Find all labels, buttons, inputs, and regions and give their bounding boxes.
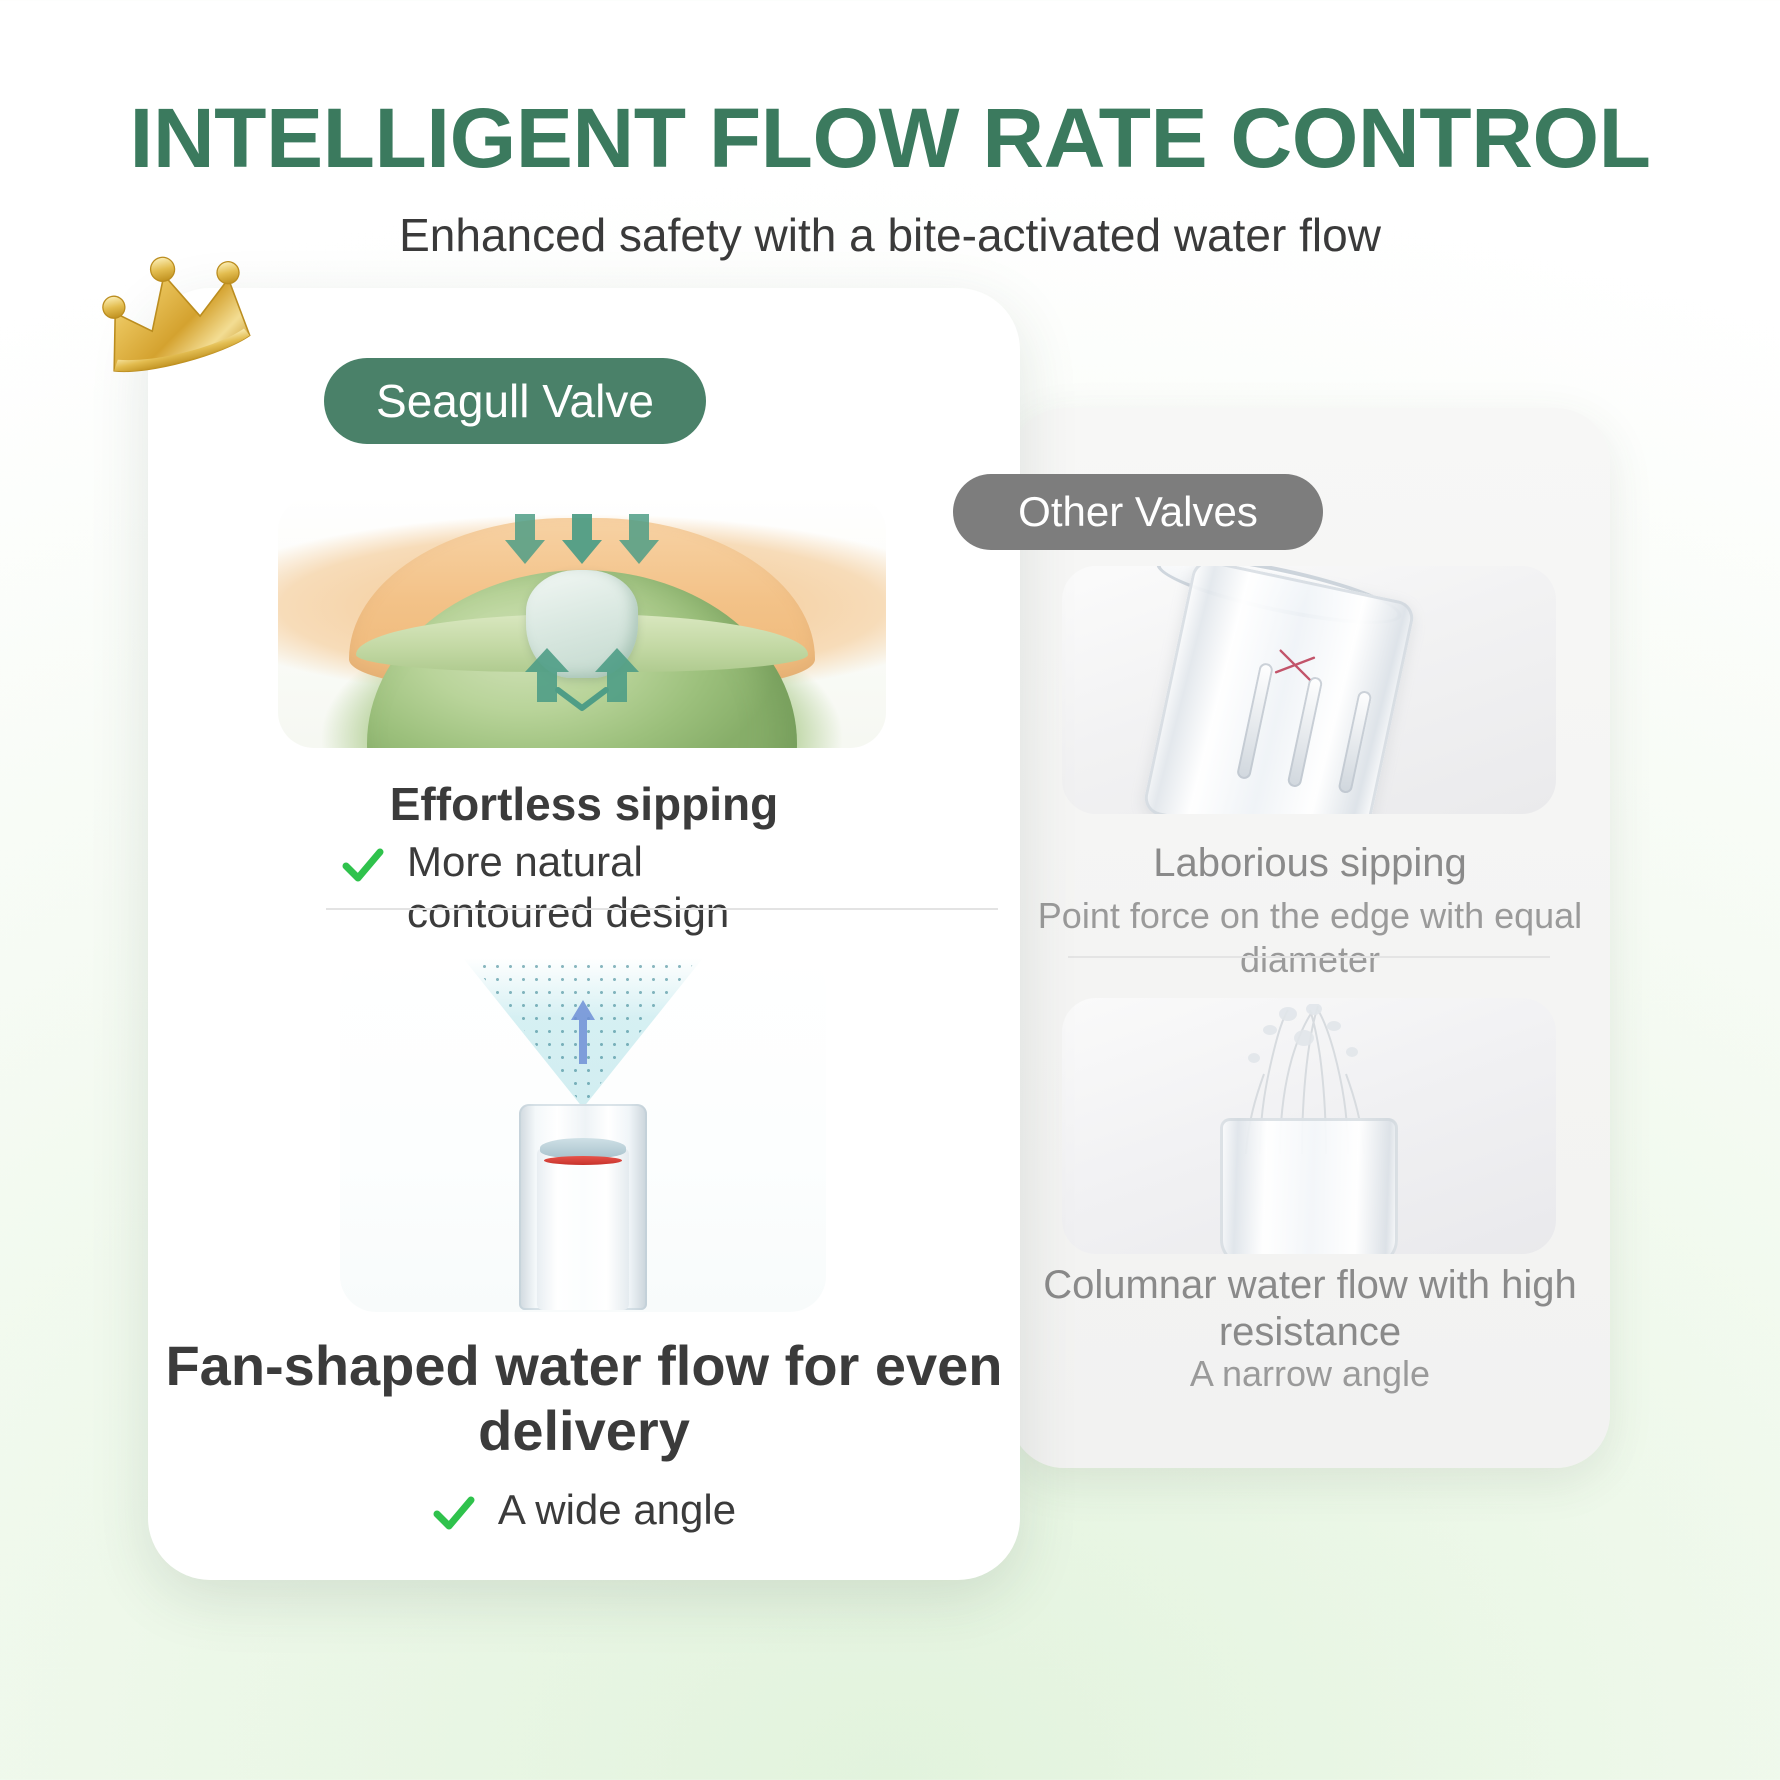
other-card-divider xyxy=(1068,956,1550,958)
seagull-section-1-bullet-text: More natural contoured design xyxy=(407,836,827,938)
seagull-section-1-bullet: More natural contoured design xyxy=(148,836,1020,938)
other-section-2-sub: A narrow angle xyxy=(1010,1352,1610,1396)
page-title: INTELLIGENT FLOW RATE CONTROL xyxy=(0,96,1780,182)
seagull-valve-content: Effortless sipping More natural contoure… xyxy=(148,288,1020,1580)
straw-body xyxy=(519,1104,647,1310)
other-valves-content: Laborious sipping Point force on the edg… xyxy=(1010,408,1610,1468)
upward-flow-arrows-icon xyxy=(507,646,657,702)
upward-arrow-icon xyxy=(568,996,598,1066)
seagull-valve-dome-photo xyxy=(278,496,886,748)
clear-valve-glass-photo xyxy=(1062,566,1556,814)
other-section-2-heading: Columnar water flow with high resistance xyxy=(1010,1262,1610,1356)
straw-red-ring xyxy=(544,1156,622,1165)
seagull-section-1-heading: Effortless sipping xyxy=(148,778,1020,831)
other-section-1-sub: Point force on the edge with equal diame… xyxy=(1010,894,1610,982)
straw-valve xyxy=(540,1138,626,1158)
seagull-section-2-bullet: A wide angle xyxy=(148,1484,1020,1536)
seagull-section-2-heading: Fan-shaped water flow for even delivery xyxy=(148,1334,1020,1464)
glass-body xyxy=(1141,566,1416,814)
infographic-page: INTELLIGENT FLOW RATE CONTROL Enhanced s… xyxy=(0,0,1780,1780)
check-icon xyxy=(432,1492,476,1536)
splash-cup xyxy=(1220,1118,1398,1254)
check-icon xyxy=(341,844,385,888)
straw-inner xyxy=(537,1148,629,1310)
fan-spray-straw-photo xyxy=(340,952,826,1312)
seagull-valve-badge: Seagull Valve xyxy=(324,358,706,444)
header: INTELLIGENT FLOW RATE CONTROL Enhanced s… xyxy=(0,96,1780,263)
other-section-1-heading: Laborious sipping xyxy=(1010,840,1610,887)
seagull-card-divider xyxy=(326,908,998,910)
columnar-splash-photo xyxy=(1062,998,1556,1254)
seagull-section-2-bullet-text: A wide angle xyxy=(498,1484,736,1535)
downward-flow-arrows-icon xyxy=(487,514,677,572)
page-subtitle: Enhanced safety with a bite-activated wa… xyxy=(0,208,1780,263)
